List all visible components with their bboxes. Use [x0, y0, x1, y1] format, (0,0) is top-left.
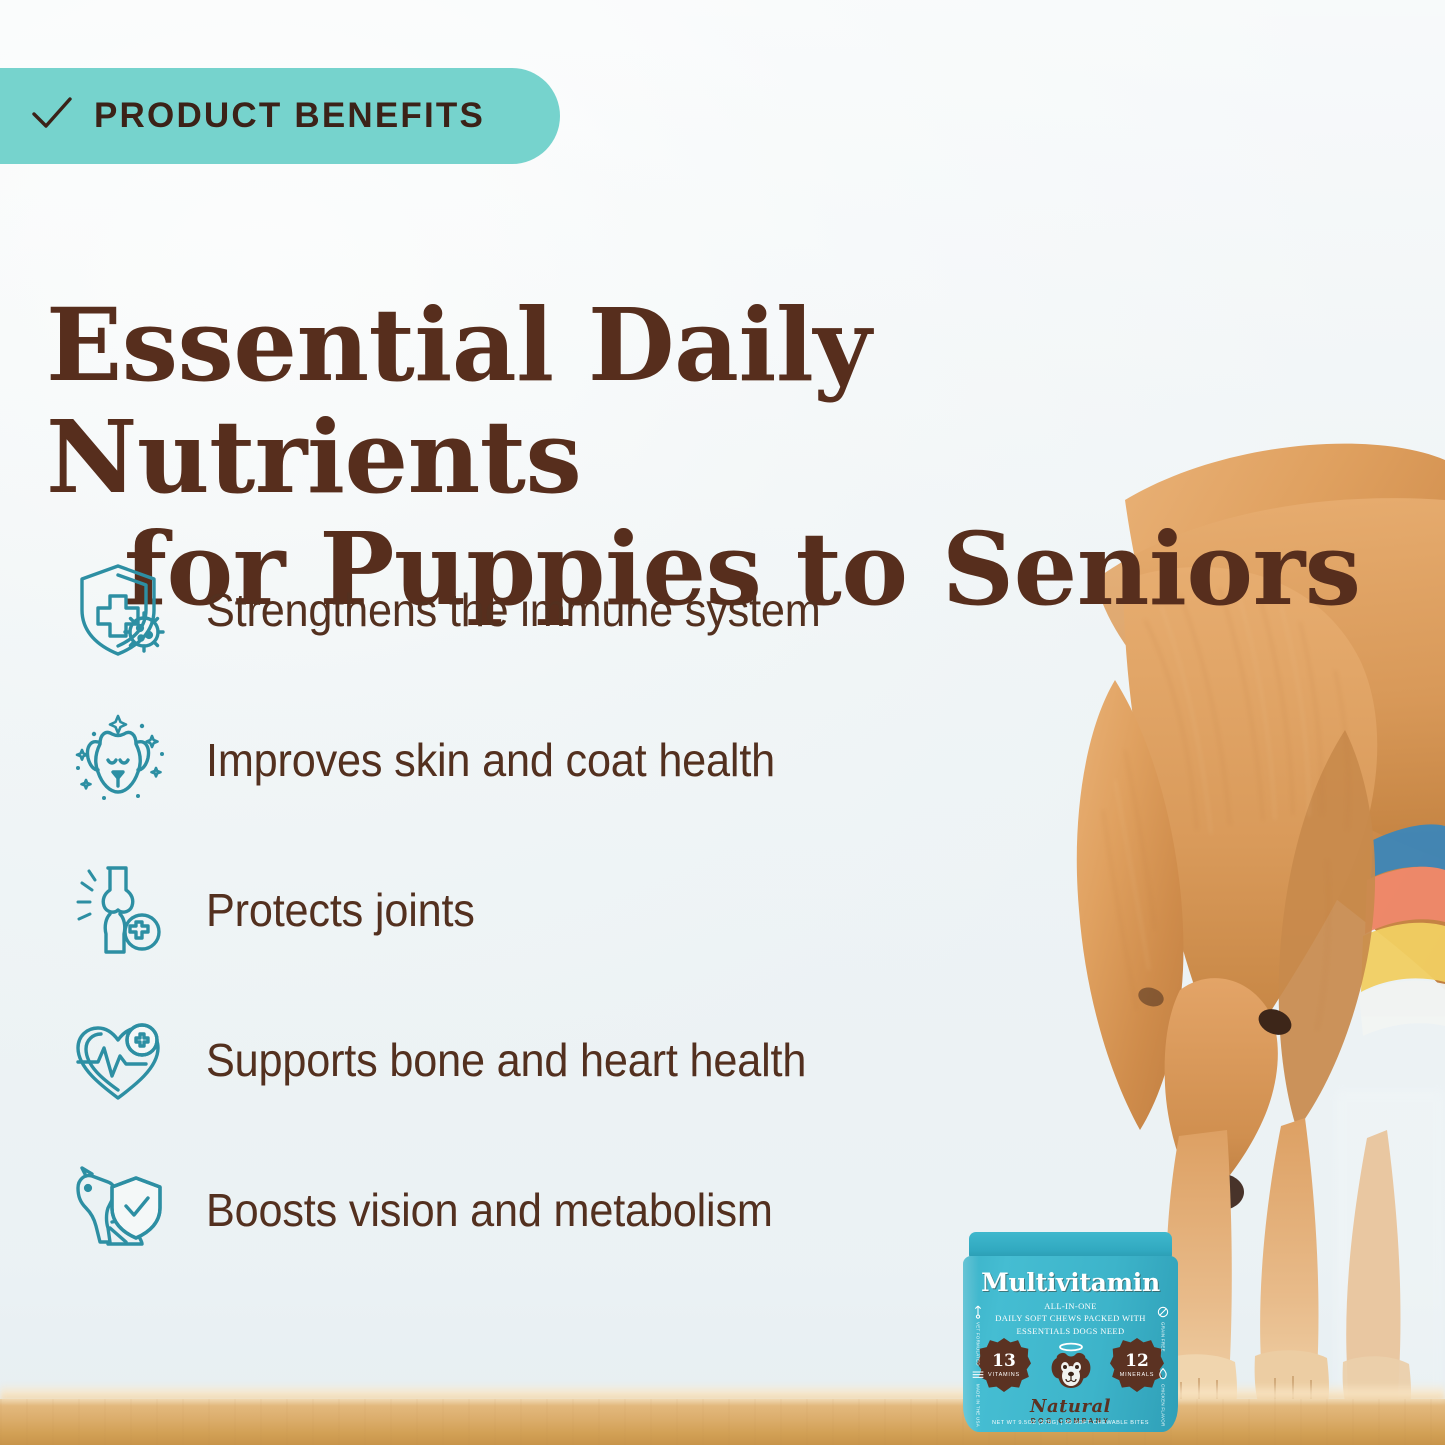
jar-side-label: MADE IN THE USA: [976, 1384, 981, 1427]
vitamins-caption: VITAMINS: [988, 1372, 1020, 1378]
product-subtitle: ALL-IN-ONE DAILY SOFT CHEWS PACKED WITH …: [981, 1300, 1160, 1337]
net-weight-text: NET WT 9.5OZ (270G) | 90 SOFT CHEWABLE B…: [963, 1420, 1178, 1426]
vitamins-count: 13: [992, 1353, 1016, 1370]
jar-side-label: CHICKEN FLAVOR: [1161, 1384, 1166, 1426]
product-title: Multivitamin: [963, 1268, 1178, 1297]
dog-face-sparkle-icon: [64, 706, 172, 814]
minerals-count: 12: [1125, 1353, 1149, 1370]
benefit-item: Supports bone and heart health: [64, 985, 1064, 1135]
jar-side-icon-left-top: VET FORMULATED: [967, 1304, 989, 1366]
jar-side-label: VET FORMULATED: [976, 1322, 981, 1366]
benefit-item: Boosts vision and metabolism: [64, 1135, 1064, 1285]
jar-side-label: GRAIN FREE: [1161, 1322, 1166, 1352]
jar-side-icon-left-bottom: MADE IN THE USA: [967, 1366, 989, 1427]
jar-side-icon-right-top: GRAIN FREE: [1152, 1304, 1174, 1352]
heart-pulse-icon: [64, 1006, 172, 1114]
benefit-label: Protects joints: [206, 883, 475, 937]
jar-body: Multivitamin ALL-IN-ONE DAILY SOFT CHEWS…: [963, 1256, 1178, 1432]
badge-label: PRODUCT BENEFITS: [94, 96, 485, 136]
product-subtitle-line-3: ESSENTIALS DOGS NEED: [981, 1325, 1160, 1337]
brand-name: Natural: [963, 1396, 1178, 1417]
product-benefits-badge: PRODUCT BENEFITS: [0, 68, 560, 164]
product-subtitle-line-2: DAILY SOFT CHEWS PACKED WITH: [981, 1312, 1160, 1324]
benefit-label: Boosts vision and metabolism: [206, 1183, 773, 1237]
headline-line-1: Essential Daily Nutrients: [46, 286, 871, 516]
floor-grain: [0, 1399, 1445, 1445]
product-benefits-graphic: PRODUCT BENEFITS Essential Daily Nutrien…: [0, 0, 1445, 1445]
benefits-list: Strengthens the immune system: [64, 535, 1064, 1285]
dog-halo-mascot-icon: [1044, 1340, 1098, 1401]
product-jar: Multivitamin ALL-IN-ONE DAILY SOFT CHEWS…: [963, 1232, 1178, 1432]
product-subtitle-line-1: ALL-IN-ONE: [981, 1300, 1160, 1312]
jar-lid: [969, 1232, 1172, 1258]
jar-side-icon-right-bottom: CHICKEN FLAVOR: [1152, 1366, 1174, 1426]
minerals-caption: MINERALS: [1120, 1372, 1155, 1378]
benefit-item: Protects joints: [64, 835, 1064, 985]
wooden-floor: [0, 1399, 1445, 1445]
shield-virus-icon: [64, 556, 172, 664]
check-icon: [30, 94, 74, 139]
dog-shield-check-icon: [64, 1156, 172, 1264]
benefit-label: Supports bone and heart health: [206, 1033, 806, 1087]
bone-joint-icon: [64, 856, 172, 964]
benefit-label: Strengthens the immune system: [206, 583, 821, 637]
benefit-item: Strengthens the immune system: [64, 535, 1064, 685]
benefit-item: Improves skin and coat health: [64, 685, 1064, 835]
benefit-label: Improves skin and coat health: [206, 733, 775, 787]
